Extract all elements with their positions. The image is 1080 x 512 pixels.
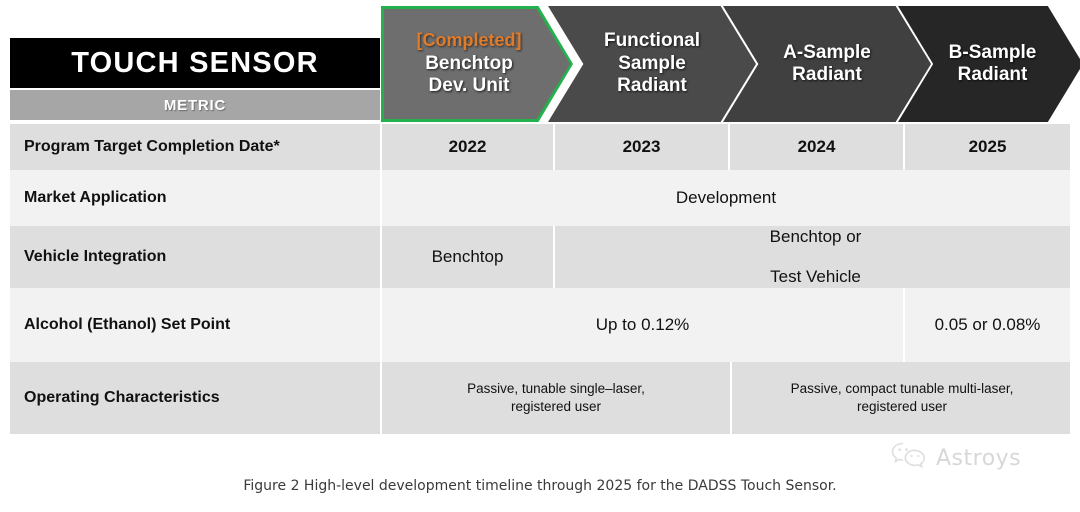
table-row: Operating Characteristics Passive, tunab…	[10, 362, 1070, 434]
cell-line1: Benchtop or	[770, 227, 862, 247]
table-cell: Passive, compact tunable multi-laser, re…	[730, 362, 1072, 434]
stage-label-line1: A-Sample	[783, 42, 871, 64]
stage-label-line2: Sample	[618, 53, 686, 75]
table-row: Market Application Development	[10, 170, 1070, 226]
cell-line1: Passive, compact tunable multi-laser,	[791, 381, 1014, 396]
table-cell: Passive, tunable single–laser, registere…	[380, 362, 730, 434]
stage-completed-tag: [Completed]	[417, 30, 522, 52]
table-cell: Up to 0.12%	[380, 288, 903, 362]
table-row: Vehicle Integration Benchtop Benchtop or…	[10, 226, 1070, 288]
cell-line1: Passive, tunable single–laser,	[467, 381, 645, 396]
row-label: Operating Characteristics	[10, 362, 380, 434]
stage-label-line3: Radiant	[617, 75, 687, 97]
stage-label-line1: Benchtop	[425, 53, 513, 76]
page-title: TOUCH SENSOR	[10, 38, 380, 88]
stage-chevron-benchtop-dev-unit[interactable]: [Completed] Benchtop Dev. Unit	[384, 9, 570, 119]
title-text: TOUCH SENSOR	[71, 47, 319, 80]
watermark: Astroys	[890, 440, 1021, 477]
row-label: Market Application	[10, 170, 380, 226]
figure-page: TOUCH SENSOR METRIC [Completed] Benchtop…	[0, 0, 1080, 512]
stage-label-line2: Radiant	[958, 64, 1028, 86]
metric-column-header: METRIC	[10, 90, 380, 120]
stage-label-line2: Dev. Unit	[429, 75, 510, 98]
table-cell: Benchtop	[380, 226, 553, 288]
cell-line2: registered user	[511, 399, 601, 414]
table-cell: 2024	[728, 124, 903, 170]
table-cell: Development	[380, 170, 1070, 226]
table-cell: 0.05 or 0.08%	[903, 288, 1070, 362]
stage-chevron-functional-sample-radiant[interactable]: Functional Sample Radiant	[548, 6, 756, 122]
stage-label-line2: Radiant	[792, 64, 862, 86]
timeline-header: TOUCH SENSOR METRIC [Completed] Benchtop…	[0, 0, 1080, 122]
timeline-table: Program Target Completion Date* 2022 202…	[10, 124, 1070, 434]
caption-text: Figure 2 High-level development timeline…	[243, 478, 836, 494]
wechat-icon	[890, 440, 930, 477]
row-label: Program Target Completion Date*	[10, 124, 380, 170]
table-cell: Benchtop or Test Vehicle	[553, 226, 1076, 288]
row-label: Vehicle Integration	[10, 226, 380, 288]
cell-line2: registered user	[857, 399, 947, 414]
table-cell: 2022	[380, 124, 553, 170]
stage-label-line1: B-Sample	[949, 42, 1037, 64]
stage-label-line1: Functional	[604, 30, 700, 52]
table-row: Alcohol (Ethanol) Set Point Up to 0.12% …	[10, 288, 1070, 362]
row-label: Alcohol (Ethanol) Set Point	[10, 288, 380, 362]
table-row: Program Target Completion Date* 2022 202…	[10, 124, 1070, 170]
cell-line2: Test Vehicle	[770, 267, 862, 287]
metric-label-text: METRIC	[164, 97, 226, 114]
watermark-text: Astroys	[936, 446, 1021, 471]
table-cell: 2025	[903, 124, 1070, 170]
table-cell: 2023	[553, 124, 728, 170]
figure-caption: Figure 2 High-level development timeline…	[0, 478, 1080, 494]
